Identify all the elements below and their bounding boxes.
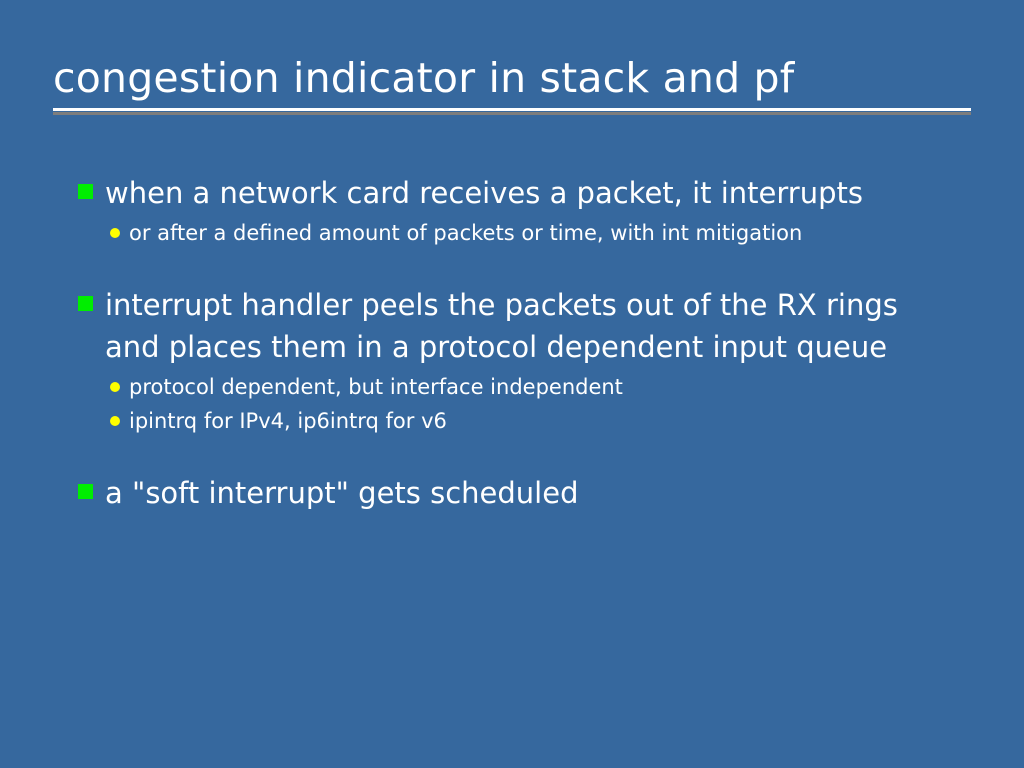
sub-bullet-item: ipintrq for IPv4, ip6intrq for v6 — [110, 404, 978, 438]
sub-bullet-text: or after a defined amount of packets or … — [129, 216, 802, 250]
bullet-group: interrupt handler peels the packets out … — [78, 284, 978, 438]
title-divider — [53, 108, 971, 111]
bullet-group: when a network card receives a packet, i… — [78, 172, 978, 250]
sub-bullet-item: protocol dependent, but interface indepe… — [110, 370, 978, 404]
sub-bullet-list: protocol dependent, but interface indepe… — [110, 370, 978, 438]
sub-bullet-text: protocol dependent, but interface indepe… — [129, 370, 623, 404]
slide-body: when a network card receives a packet, i… — [78, 172, 978, 514]
bullet-group: a "soft interrupt" gets scheduled — [78, 472, 978, 514]
sub-bullet-list: or after a defined amount of packets or … — [110, 216, 978, 250]
dot-bullet-icon — [110, 228, 120, 238]
bullet-item: when a network card receives a packet, i… — [78, 172, 978, 214]
slide-canvas: congestion indicator in stack and pf whe… — [0, 0, 1024, 768]
sub-bullet-text: ipintrq for IPv4, ip6intrq for v6 — [129, 404, 447, 438]
dot-bullet-icon — [110, 416, 120, 426]
bullet-item: interrupt handler peels the packets out … — [78, 284, 978, 368]
bullet-item: a "soft interrupt" gets scheduled — [78, 472, 978, 514]
page-title: congestion indicator in stack and pf — [53, 52, 971, 104]
bullet-text: interrupt handler peels the packets out … — [105, 284, 905, 368]
square-bullet-icon — [78, 296, 93, 311]
square-bullet-icon — [78, 184, 93, 199]
slide-title-block: congestion indicator in stack and pf — [53, 52, 971, 111]
dot-bullet-icon — [110, 382, 120, 392]
sub-bullet-item: or after a defined amount of packets or … — [110, 216, 978, 250]
bullet-text: a "soft interrupt" gets scheduled — [105, 472, 579, 514]
square-bullet-icon — [78, 484, 93, 499]
bullet-text: when a network card receives a packet, i… — [105, 172, 863, 214]
